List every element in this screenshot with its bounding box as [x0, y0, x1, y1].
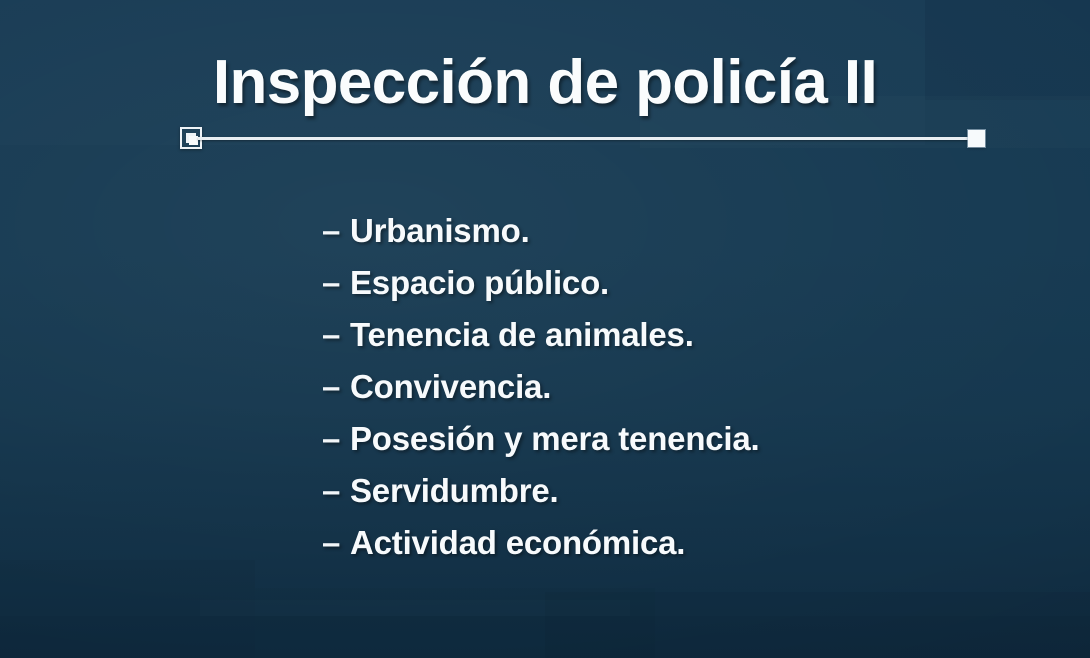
filled-square-icon — [968, 130, 985, 147]
bullet-dash-icon: – — [322, 318, 350, 351]
list-item: – Servidumbre. — [322, 474, 1022, 526]
list-item: – Posesión y mera tenencia. — [322, 422, 1022, 474]
slide-title: Inspección de policía II — [0, 52, 1090, 114]
list-item: – Espacio público. — [322, 266, 1022, 318]
list-item-label: Espacio público. — [350, 266, 609, 299]
list-item: – Tenencia de animales. — [322, 318, 1022, 370]
list-item-label: Convivencia. — [350, 370, 551, 403]
bullet-dash-icon: – — [322, 474, 350, 507]
list-item: – Urbanismo. — [322, 214, 1022, 266]
bullet-dash-icon: – — [322, 370, 350, 403]
list-item-label: Servidumbre. — [350, 474, 559, 507]
title-divider — [180, 126, 986, 152]
bullet-dash-icon: – — [322, 214, 350, 247]
divider-line — [198, 137, 968, 140]
bullet-dash-icon: – — [322, 526, 350, 559]
bullet-dash-icon: – — [322, 422, 350, 455]
list-item-label: Posesión y mera tenencia. — [350, 422, 760, 455]
bullet-dash-icon: – — [322, 266, 350, 299]
list-item: – Actividad económica. — [322, 526, 1022, 578]
list-item-label: Urbanismo. — [350, 214, 530, 247]
list-item-label: Actividad económica. — [350, 526, 685, 559]
list-item-label: Tenencia de animales. — [350, 318, 694, 351]
list-item: – Convivencia. — [322, 370, 1022, 422]
bullet-list: – Urbanismo. – Espacio público. – Tenenc… — [322, 214, 1022, 578]
presentation-slide: Inspección de policía II – Urbanismo. – … — [0, 0, 1090, 658]
